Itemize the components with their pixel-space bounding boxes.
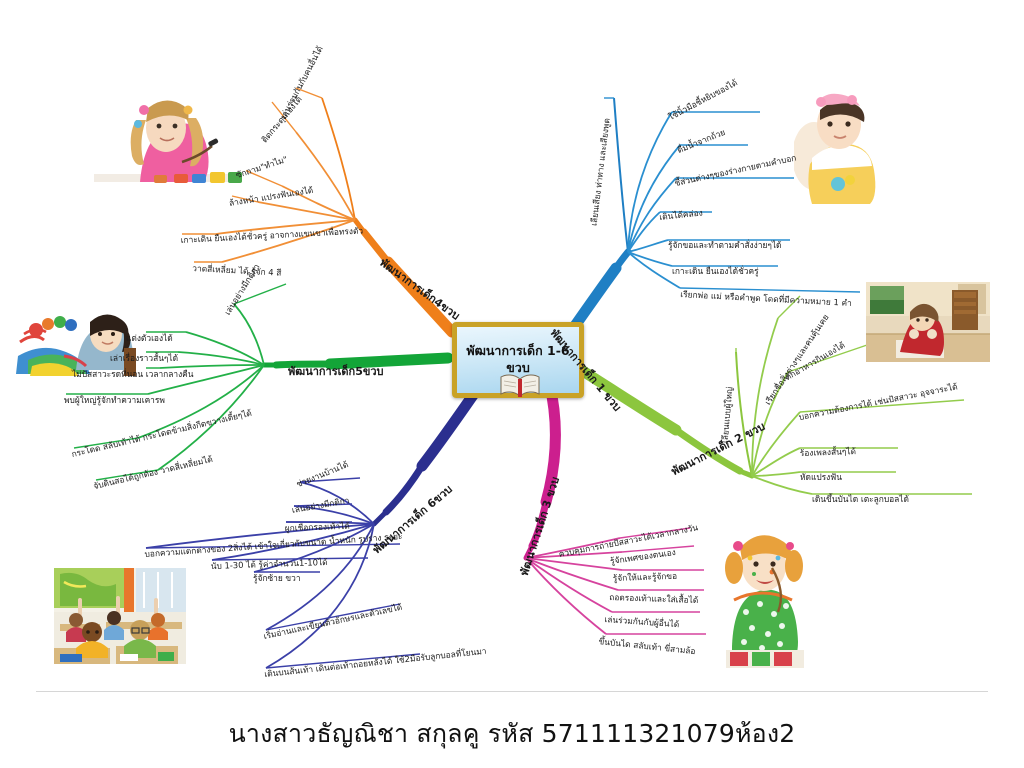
photo-girl-face-paint — [716, 516, 812, 668]
photo-girl-face-paint-art — [716, 516, 812, 668]
leaf-age2-6[interactable]: หัดแปรงฟัน — [800, 472, 842, 484]
photo-girl-thinking-paints-art — [88, 90, 246, 190]
photo-classroom-students-art — [54, 568, 186, 664]
leaf-age1-6[interactable]: รู้จักขอและทำตามคำสั่งง่ายๆได้ — [668, 240, 782, 252]
leaf-age5-5[interactable]: พบผู้ใหญ่รู้จักทำความเคารพ — [64, 395, 165, 407]
leaf-age2-7[interactable]: เดินขึ้นบันได เตะลูกบอลได้ — [812, 494, 909, 506]
leaf-age1-7[interactable]: เกาะเดิน ยืนเองได้ชั่วครู่ — [672, 266, 759, 278]
photo-toddler-on-floor-art — [866, 282, 990, 362]
footer-divider — [36, 691, 988, 692]
leaf-age5-2[interactable]: แต่งตัวเองได้ — [126, 333, 173, 345]
leaf-age5-3[interactable]: เล่าเรื่องราวสั้นๆได้ — [110, 353, 178, 365]
photo-girl-thinking-paints — [88, 90, 246, 190]
leaf-age5-4[interactable]: ไม่ปัสสาวะรดที่นอน เวลากลางคืน — [72, 369, 194, 381]
photo-toddler-on-floor — [866, 282, 990, 362]
photo-baby-girl-headband-art — [794, 86, 878, 204]
author-caption: นางสาวธัญณิชา สกุลคู รหัส 571111321079ห้… — [0, 714, 1024, 754]
leaf-age2-5[interactable]: ร้องเพลงสั้นๆได้ — [800, 446, 857, 459]
leaf-age6-6[interactable]: รู้จักซ้าย ขวา — [253, 573, 301, 585]
leaf-age3-3[interactable]: รู้จักให้และรู้จักขอ — [613, 571, 678, 585]
photo-baby-girl-headband — [794, 86, 878, 204]
branch-label-age5[interactable]: พัฒนาการเด็ก5ขวบ — [288, 362, 384, 380]
mindmap-canvas: พัฒนาการเด็ก 1-6 ขวบ พัฒนาการเด็ก 1 ขวบ … — [0, 0, 1024, 768]
photo-classroom-students — [54, 568, 186, 664]
leaf-age6-3[interactable]: ผูกเชือกรองเท้าได้ — [285, 521, 350, 535]
